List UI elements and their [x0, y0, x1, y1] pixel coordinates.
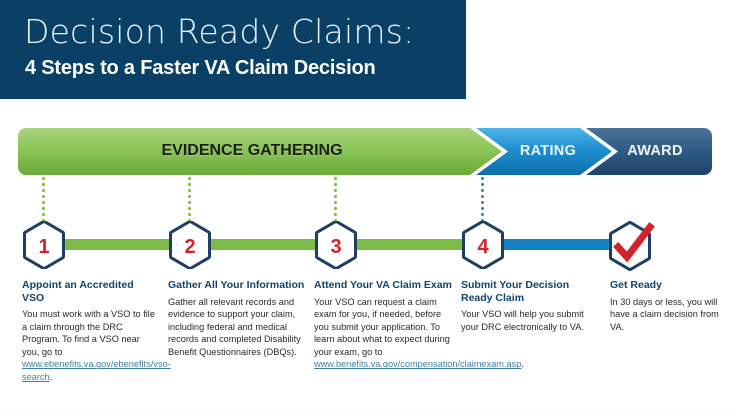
timeline-rail-evidence — [52, 239, 477, 250]
step-3-body: Your VSO can request a claim exam for yo… — [314, 296, 457, 372]
step-4-body: Your VSO will help you submit your DRC e… — [461, 308, 601, 333]
step-marker-2[interactable]: 2 — [168, 221, 212, 269]
page-subtitle: 4 Steps to a Faster VA Claim Decision — [25, 55, 376, 81]
step-marker-3-number: 3 — [330, 236, 341, 258]
step-5-body: In 30 days or less, you will have a clai… — [610, 296, 720, 334]
step-4-title: Submit Your Decision Ready Claim — [461, 279, 601, 304]
step-1-link[interactable]: www.ebenefits.va.gov/ebenefits/vso-searc… — [22, 359, 171, 382]
banner-label-evidence: EVIDENCE GATHERING — [152, 142, 352, 160]
step-3-link[interactable]: www.benefits.va.gov/compensation/claimex… — [314, 359, 521, 369]
step-column-2: Gather All Your Information Gather all r… — [168, 279, 308, 358]
step-3-body-text: Your VSO can request a claim exam for yo… — [314, 297, 450, 357]
process-banner: EVIDENCE GATHERING RATING AWARD — [18, 128, 712, 175]
connector-dots-step-2 — [188, 177, 191, 225]
banner-label-rating: RATING — [508, 143, 588, 159]
step-column-5: Get Ready In 30 days or less, you will h… — [610, 279, 720, 333]
step-marker-2-number: 2 — [184, 236, 195, 258]
step-marker-4[interactable]: 4 — [461, 221, 505, 269]
step-1-body: You must work with a VSO to file a claim… — [22, 308, 157, 384]
banner-label-award: AWARD — [615, 143, 695, 159]
step-2-body: Gather all relevant records and evidence… — [168, 296, 308, 359]
step-3-title: Attend Your VA Claim Exam — [314, 279, 457, 292]
step-column-1: Appoint an Accredited VSO You must work … — [22, 279, 157, 384]
infographic-page: Decision Ready Claims: 4 Steps to a Fast… — [0, 0, 730, 414]
step-column-3: Attend Your VA Claim Exam Your VSO can r… — [314, 279, 457, 371]
step-marker-4-number: 4 — [477, 236, 489, 258]
page-title: Decision Ready Claims: — [24, 13, 414, 51]
connector-dots-step-3 — [334, 177, 337, 225]
step-2-title: Gather All Your Information — [168, 279, 308, 292]
step-marker-complete[interactable] — [608, 221, 652, 269]
step-column-4: Submit Your Decision Ready Claim Your VS… — [461, 279, 601, 333]
header-band: Decision Ready Claims: 4 Steps to a Fast… — [0, 0, 466, 99]
step-marker-1-number: 1 — [38, 236, 49, 258]
timeline-rail-rating — [492, 239, 621, 250]
connector-dots-step-4 — [481, 177, 484, 225]
connector-dots-step-1 — [42, 177, 45, 225]
step-1-title: Appoint an Accredited VSO — [22, 279, 157, 304]
step-3-body-tail: . — [521, 359, 524, 369]
step-1-body-tail: . — [50, 372, 53, 382]
step-1-body-text: You must work with a VSO to file a claim… — [22, 309, 155, 357]
step-5-title: Get Ready — [610, 279, 720, 292]
step-marker-3[interactable]: 3 — [314, 221, 358, 269]
step-marker-1[interactable]: 1 — [22, 221, 66, 269]
